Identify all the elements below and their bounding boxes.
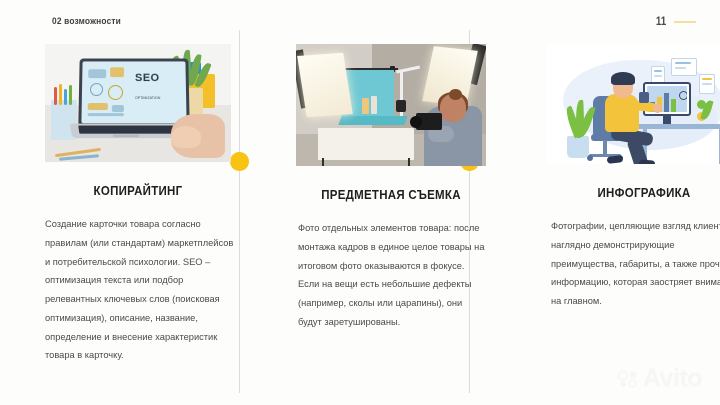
card-product-photography: ПРЕДМЕТНАЯ СЪЕМКА Фото отдельных элемент… — [276, 44, 506, 405]
card-title: ИНФОГРАФИКА — [551, 186, 720, 200]
card-copywriting: SEO OPTIMIZATION — [23, 44, 253, 405]
card-title: ПРЕДМЕТНАЯ СЪЕМКА — [298, 188, 484, 202]
avito-watermark: Avito — [618, 366, 702, 391]
card-body: Создание карточки товара согласно правил… — [37, 215, 239, 365]
slide-header: 02 возможности 11 — [52, 16, 696, 34]
card-title: КОПИРАЙТИНГ — [45, 184, 231, 198]
avito-logo-icon — [618, 370, 640, 388]
presentation-slide: 02 возможности 11 — [0, 0, 720, 405]
card-body: Фотографии, цепляющие взгляд клиентов и … — [543, 217, 720, 311]
page-marker: 11 — [655, 16, 696, 28]
page-rule-decoration — [674, 21, 696, 24]
infographic-workspace-illustration — [547, 44, 720, 164]
photo-studio-softbox-photo — [296, 44, 486, 166]
avito-watermark-text: Avito — [643, 366, 702, 391]
laptop-seo-desk-photo: SEO OPTIMIZATION — [45, 44, 231, 162]
cards-container: SEO OPTIMIZATION — [0, 44, 720, 405]
section-label: 02 возможности — [52, 16, 619, 27]
page-number: 11 — [656, 16, 666, 28]
card-body: Фото отдельных элементов товара: после м… — [290, 219, 492, 332]
card-infographics: ИНФОГРАФИКА Фотографии, цепляющие взгляд… — [529, 44, 720, 405]
